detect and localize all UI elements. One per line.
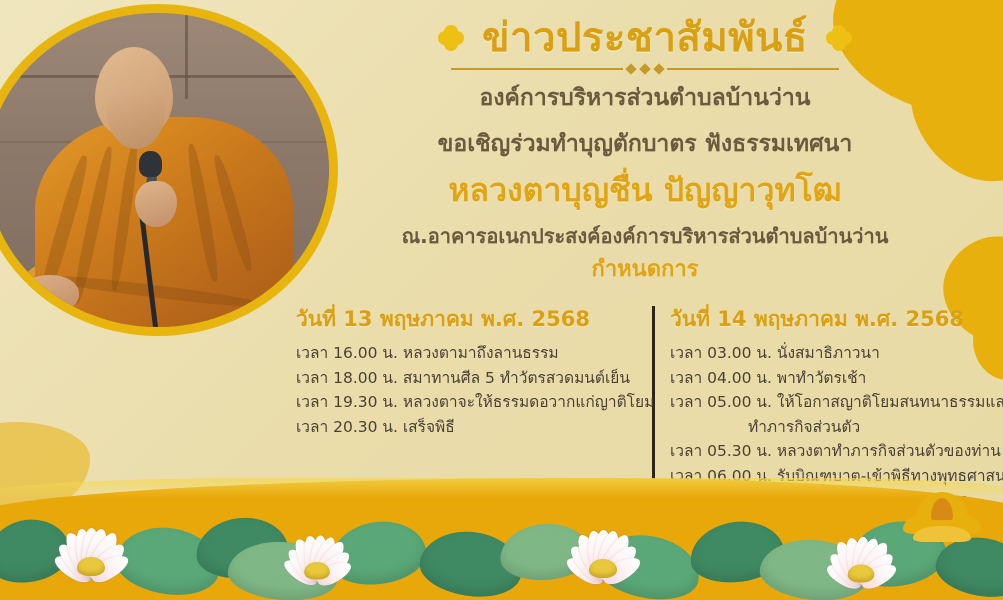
schedule-day1: วันที่ 13 พฤษภาคม พ.ศ. 2568 เวลา 16.00 น… xyxy=(296,306,648,439)
title-divider xyxy=(445,64,845,74)
title-row: ข่าวประชาสัมพันธ์ xyxy=(300,16,990,61)
schedule-item: เวลา 18.00 น. สมาทานศีล 5 ทำวัตรสวดมนต์เ… xyxy=(296,366,626,390)
venue-line: ณ.อาคารอเนกประสงค์องค์การบริหารส่วนตำบลบ… xyxy=(300,222,990,250)
schedule-item: เวลา 05.00 น. ให้โอกาสญาติโยมสนทนาธรรมแล… xyxy=(670,390,986,414)
page-title: ข่าวประชาสัมพันธ์ xyxy=(482,16,808,61)
organization-name: องค์การบริหารส่วนตำบลบ้านว่าน xyxy=(300,82,990,114)
schedule-item: เวลา 05.30 น. หลวงตาทำภารกิจส่วนตัวของท่… xyxy=(670,439,986,463)
schedule-item: เวลา 03.00 น. นั่งสมาธิภาวนา xyxy=(670,341,986,365)
wall-line-2 xyxy=(185,13,188,99)
schedule-item: เวลา 20.30 น. เสร็จพิธี xyxy=(296,415,626,439)
monk-hand-resting xyxy=(21,275,79,313)
monk-photo-image xyxy=(0,13,329,327)
day1-date-heading: วันที่ 13 พฤษภาคม พ.ศ. 2568 xyxy=(296,306,626,333)
lotus-garden xyxy=(0,480,1003,600)
schedule-item-continuation: ทำภารกิจส่วนตัว xyxy=(670,415,986,439)
day2-date-heading: วันที่ 14 พฤษภาคม พ.ศ. 2568 xyxy=(670,306,986,333)
lotus-flower xyxy=(809,518,914,588)
monk-hand-holding-mic xyxy=(135,181,177,227)
schedule-item: เวลา 04.00 น. พาทำวัตรเช้า xyxy=(670,366,986,390)
monk-name: หลวงตาบุญชื่น ปัญญาวุทโฒ xyxy=(300,170,990,212)
invitation-line: ขอเชิญร่วมทำบุญตักบาตร ฟังธรรมเทศนา xyxy=(300,128,990,160)
microphone-head xyxy=(139,151,162,177)
schedule-item: เวลา 19.30 น. หลวงตาจะให้ธรรมดอวากแก่ญาต… xyxy=(296,390,626,414)
quatrefoil-right-icon xyxy=(826,25,852,51)
header-block: ข่าวประชาสัมพันธ์ องค์การบริหารส่วนตำบลบ… xyxy=(300,16,990,284)
poster-canvas: ข่าวประชาสัมพันธ์ องค์การบริหารส่วนตำบลบ… xyxy=(0,0,1003,600)
lotus-flower xyxy=(36,508,146,582)
quatrefoil-left-icon xyxy=(438,25,464,51)
agenda-label: กำหนดการ xyxy=(300,256,990,285)
thai-gold-ornament xyxy=(903,492,981,548)
schedule-item: เวลา 16.00 น. หลวงตามาถึงลานธรรม xyxy=(296,341,626,365)
lotus-flower xyxy=(266,517,367,585)
monk-photo xyxy=(0,4,338,336)
lotus-flower xyxy=(548,510,658,584)
